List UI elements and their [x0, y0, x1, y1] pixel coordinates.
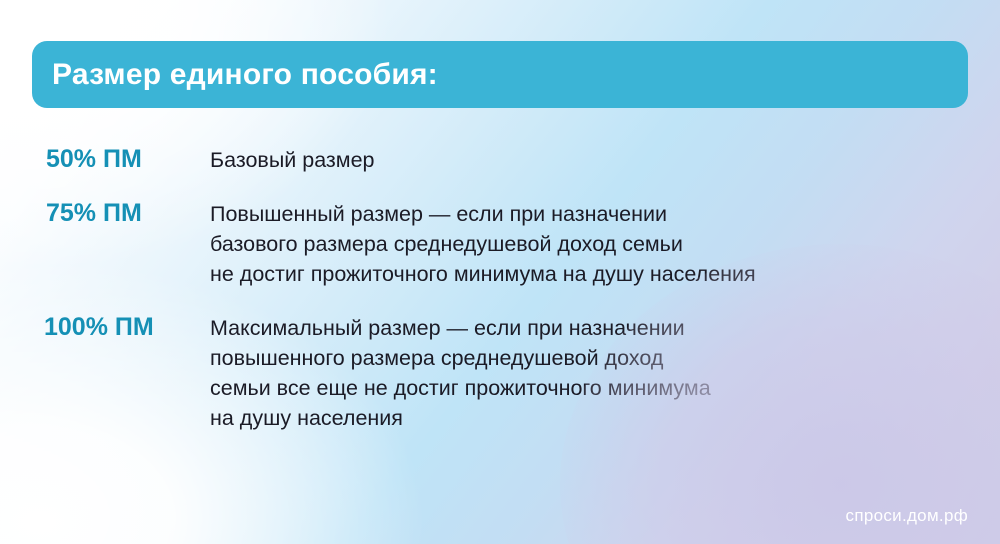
infographic-card: Размер единого пособия: 50% ПМ Базовый р…	[0, 0, 1000, 544]
benefit-description: Повышенный размер — если при назначении …	[210, 197, 972, 289]
benefit-percent-label: 100% ПМ	[32, 311, 210, 344]
description-line: Повышенный размер — если при назначении	[210, 199, 972, 229]
description-line: на душу населения	[210, 403, 972, 433]
description-line: Базовый размер	[210, 145, 972, 175]
benefit-description: Максимальный размер — если при назначени…	[210, 311, 972, 433]
description-line: Максимальный размер — если при назначени…	[210, 313, 972, 343]
description-line: повышенного размера среднедушевой доход	[210, 343, 972, 373]
benefit-percent-label: 50% ПМ	[32, 143, 210, 176]
benefit-description: Базовый размер	[210, 143, 972, 175]
benefit-row: 75% ПМ Повышенный размер — если при назн…	[32, 197, 972, 289]
benefit-rows-list: 50% ПМ Базовый размер 75% ПМ Повышенный …	[32, 143, 972, 433]
benefit-row: 50% ПМ Базовый размер	[32, 143, 972, 176]
title-banner: Размер единого пособия:	[32, 41, 968, 108]
site-watermark: спроси.дом.рф	[846, 506, 968, 526]
description-line: не достиг прожиточного минимума на душу …	[210, 259, 972, 289]
benefit-row: 100% ПМ Максимальный размер — если при н…	[32, 311, 972, 433]
benefit-percent-label: 75% ПМ	[32, 197, 210, 230]
page-title: Размер единого пособия:	[52, 58, 438, 92]
description-line: семьи все еще не достиг прожиточного мин…	[210, 373, 972, 403]
description-line: базового размера среднедушевой доход сем…	[210, 229, 972, 259]
